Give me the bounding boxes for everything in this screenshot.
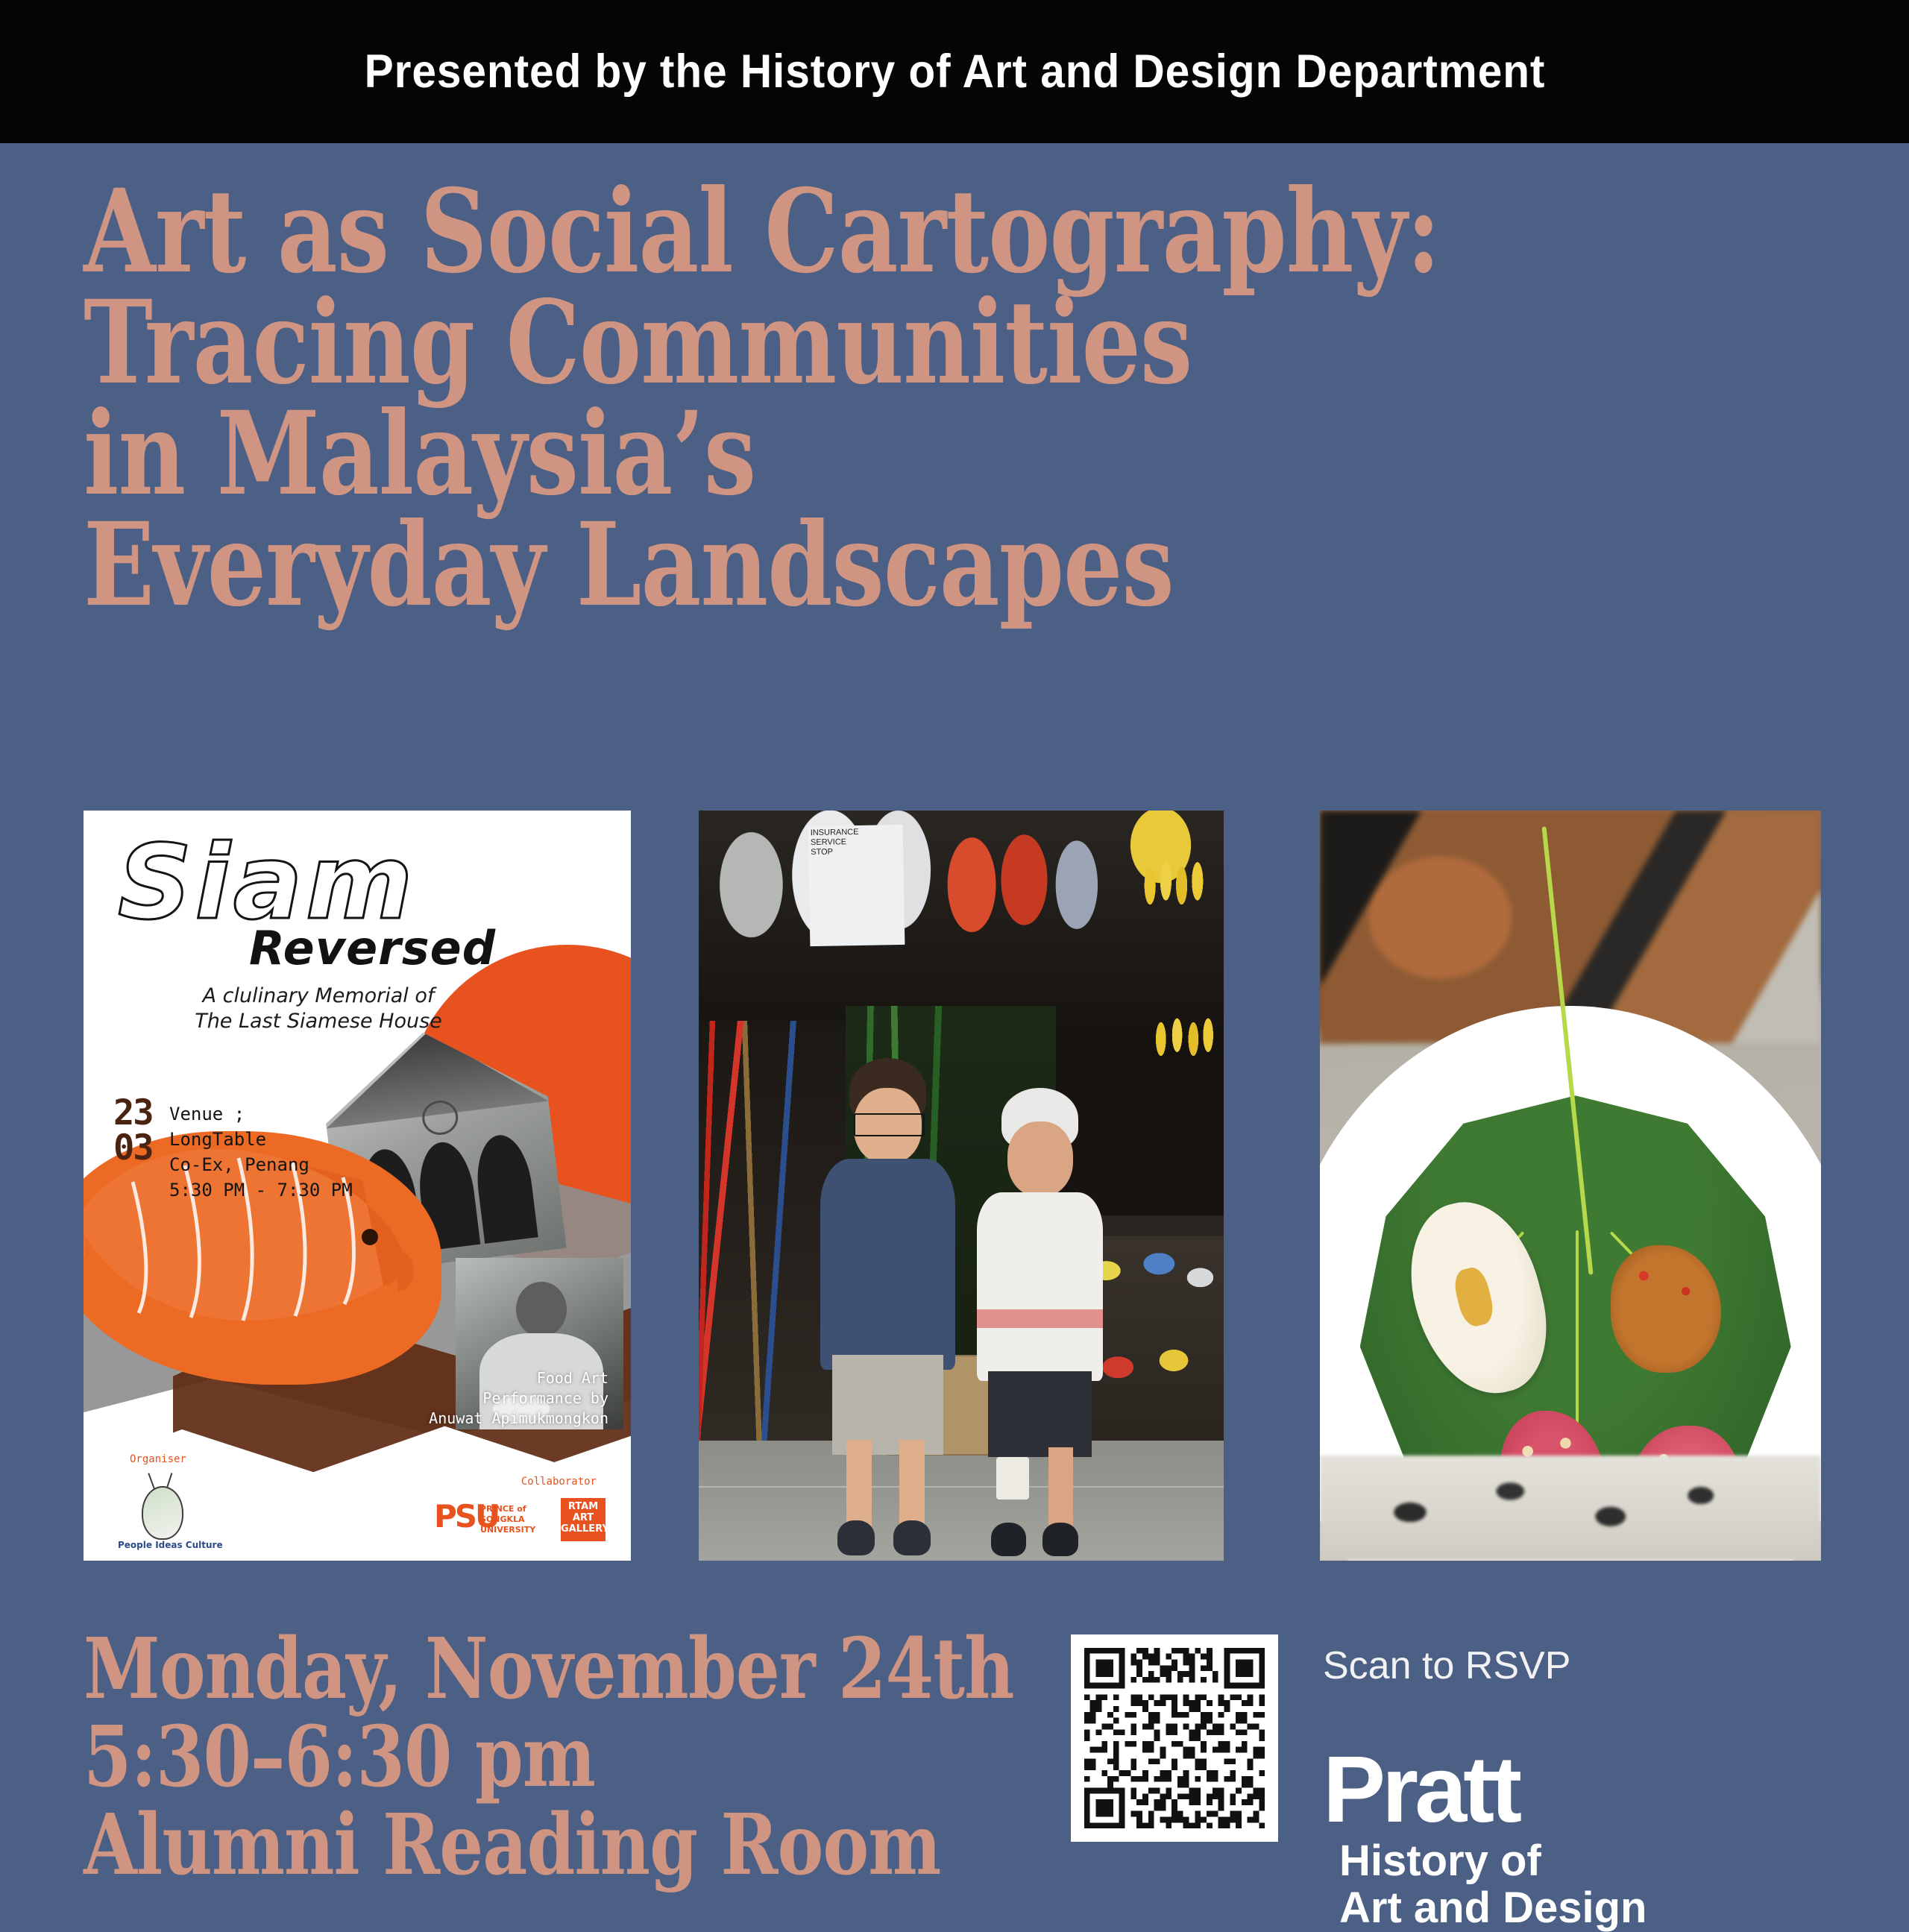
sambal-topping (1611, 1245, 1721, 1373)
siam-reversed-poster-image: Siam Reversed A clulinary Memorial of Th… (84, 811, 631, 1561)
pratt-department-name: History of Art and Design (1339, 1837, 1647, 1931)
poster-subtitle: A clulinary Memorial of The Last Siamese… (158, 984, 479, 1034)
logo-antenna-left (148, 1473, 154, 1488)
poster-venue-details: Venue ; LongTable Co-Ex, Penang 5:30 PM … (169, 1101, 353, 1203)
blue-shirt (820, 1159, 955, 1370)
shoe (837, 1520, 874, 1555)
presented-by-text: Presented by the History of Art and Desi… (364, 45, 1545, 98)
scan-to-rsvp-label: Scan to RSVP (1323, 1643, 1570, 1688)
rtam-badge-text: RTAM ART GALLERY (561, 1501, 606, 1535)
collaborator-label: Collaborator (521, 1476, 597, 1488)
title-line-2: Tracing Communities (84, 287, 1647, 398)
banana-bunch (1134, 833, 1213, 938)
glasses-icon (854, 1113, 925, 1136)
sandal (1042, 1523, 1078, 1555)
reversed-wordmark: Reversed (249, 921, 496, 975)
credit-line-3: Anuwat Apimukmongkon (362, 1409, 608, 1429)
organiser-label: Organiser (130, 1453, 186, 1465)
poster-date: 23 03 (113, 1095, 153, 1165)
event-time: 5:30–6:30 pm (84, 1714, 1014, 1802)
venue-line-2: LongTable (169, 1127, 353, 1152)
venue-line-4: 5:30 PM - 7:30 PM (169, 1177, 353, 1203)
shoe (893, 1520, 930, 1555)
credit-line-2: Performance by (362, 1388, 608, 1409)
presented-by-banner: Presented by the History of Art and Desi… (0, 0, 1909, 143)
leg (899, 1440, 925, 1530)
qr-code-icon[interactable] (1071, 1634, 1278, 1842)
face (1007, 1121, 1073, 1197)
psu-logo-icon: PSU PRINCE of SONGKLA UNIVERSITY (434, 1500, 544, 1541)
sidewalk-ground (699, 1441, 1224, 1561)
younger-man-figure (814, 1058, 961, 1561)
dark-shorts (988, 1371, 1092, 1456)
psu-name: PRINCE of SONGKLA UNIVERSITY (480, 1504, 535, 1535)
department-line-2: Art and Design (1339, 1884, 1647, 1931)
pratt-wordmark: Pratt (1323, 1748, 1518, 1831)
rtam-gallery-badge-icon: RTAM ART GALLERY (561, 1498, 606, 1541)
foreground-fabric (1320, 1456, 1821, 1561)
sandal (991, 1523, 1027, 1555)
banana-bunch (1145, 990, 1218, 1088)
white-tshirt (977, 1192, 1102, 1382)
portrait-head (516, 1282, 567, 1337)
event-date: Monday, November 24th (84, 1626, 1014, 1714)
pratt-logo: Pratt History of Art and Design (1323, 1748, 1647, 1931)
leg (1048, 1447, 1073, 1532)
title-line-1: Art as Social Cartography: (84, 176, 1647, 287)
people-ideas-culture-logo-icon (131, 1474, 191, 1546)
shop-sign: INSURANCE SERVICE STOP (808, 825, 905, 946)
knee-bandage (996, 1457, 1029, 1500)
poster-date-day: 23 (113, 1095, 153, 1130)
food-on-leaf-image (1320, 811, 1821, 1561)
house-arch (472, 1132, 538, 1244)
elder-man-figure (972, 1088, 1108, 1561)
title-line-4: Everyday Landscapes (84, 509, 1647, 620)
poster-performance-credit: Food Art Performance by Anuwat Apimukmon… (362, 1368, 608, 1429)
qr-code-svg (1078, 1642, 1271, 1834)
venue-line-1: Venue ; (169, 1101, 353, 1127)
shop-portrait-image: INSURANCE SERVICE STOP (699, 811, 1224, 1561)
logo-leaf-shape (142, 1486, 183, 1540)
page-title: Art as Social Cartography: Tracing Commu… (84, 176, 1821, 620)
organiser-name: People Ideas Culture (118, 1540, 223, 1550)
title-line-3: in Malaysia’s (84, 398, 1647, 509)
department-line-1: History of (1339, 1837, 1647, 1884)
credit-line-1: Food Art (362, 1368, 608, 1388)
event-details: Monday, November 24th 5:30–6:30 pm Alumn… (84, 1626, 1095, 1889)
poster-date-month: 03 (113, 1130, 153, 1165)
leg (846, 1440, 872, 1530)
venue-line-3: Co-Ex, Penang (169, 1152, 353, 1177)
event-location: Alumni Reading Room (84, 1802, 1014, 1889)
